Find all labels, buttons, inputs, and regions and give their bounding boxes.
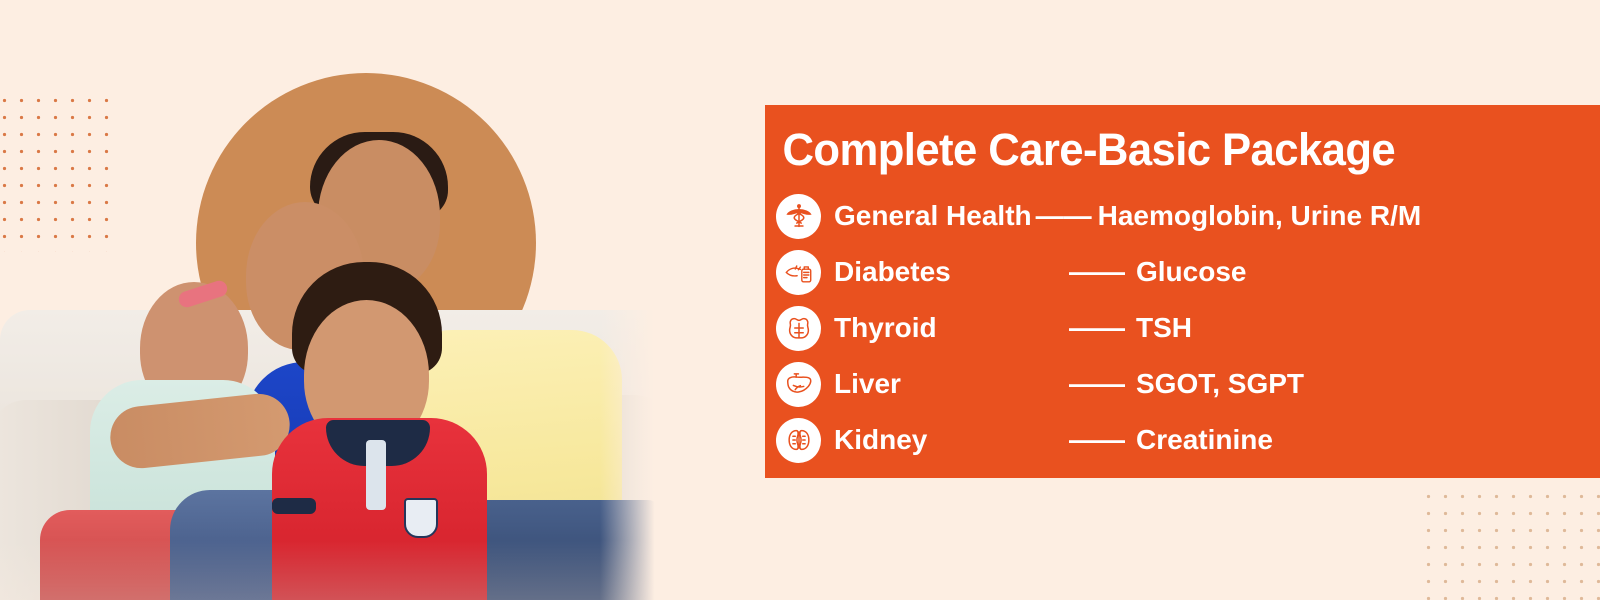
package-test-list: General Health —— Haemoglobin, Urine R/M xyxy=(765,188,1600,468)
package-row-label: Thyroid xyxy=(834,312,1066,344)
package-title: Complete Care-Basic Package xyxy=(765,105,1575,172)
package-row-kidney: Kidney —— Creatinine xyxy=(776,412,1600,468)
health-package-banner: Complete Care-Basic Package General Heal xyxy=(0,0,1600,600)
caduceus-icon xyxy=(776,194,821,239)
package-row-separator: —— xyxy=(1066,312,1128,344)
package-row-label: Diabetes xyxy=(834,256,1066,288)
package-row-label: Kidney xyxy=(834,424,1066,456)
package-row-value: Haemoglobin, Urine R/M xyxy=(1098,200,1422,232)
photo-edge-fade-right xyxy=(600,0,670,600)
thyroid-gland-icon xyxy=(776,306,821,351)
son-polo-crest xyxy=(404,498,438,538)
kidney-icon xyxy=(776,418,821,463)
package-row-liver: Liver —— SGOT, SGPT xyxy=(776,356,1600,412)
package-row-separator: —— xyxy=(1066,424,1128,456)
package-row-label: General Health xyxy=(834,200,1032,232)
package-row-value: Glucose xyxy=(1136,256,1246,288)
package-row-thyroid: Thyroid —— TSH xyxy=(776,300,1600,356)
package-row-diabetes: Diabetes —— Glucose xyxy=(776,244,1600,300)
package-row-value: TSH xyxy=(1136,312,1192,344)
dot-grid-decoration-bottom-right xyxy=(1420,488,1600,600)
photo-edge-fade-bottom xyxy=(0,540,660,600)
package-panel: Complete Care-Basic Package General Heal xyxy=(765,105,1600,478)
glucose-meter-icon xyxy=(776,250,821,295)
liver-icon xyxy=(776,362,821,407)
son-polo-placket xyxy=(366,440,386,510)
son-sleeve-band xyxy=(272,498,316,514)
package-row-value: Creatinine xyxy=(1136,424,1273,456)
package-row-separator: —— xyxy=(1036,200,1092,232)
package-row-value: SGOT, SGPT xyxy=(1136,368,1304,400)
family-photo xyxy=(0,0,660,600)
package-row-label: Liver xyxy=(834,368,1066,400)
package-row-separator: —— xyxy=(1066,368,1128,400)
package-row-separator: —— xyxy=(1066,256,1128,288)
package-row-general-health: General Health —— Haemoglobin, Urine R/M xyxy=(776,188,1600,244)
